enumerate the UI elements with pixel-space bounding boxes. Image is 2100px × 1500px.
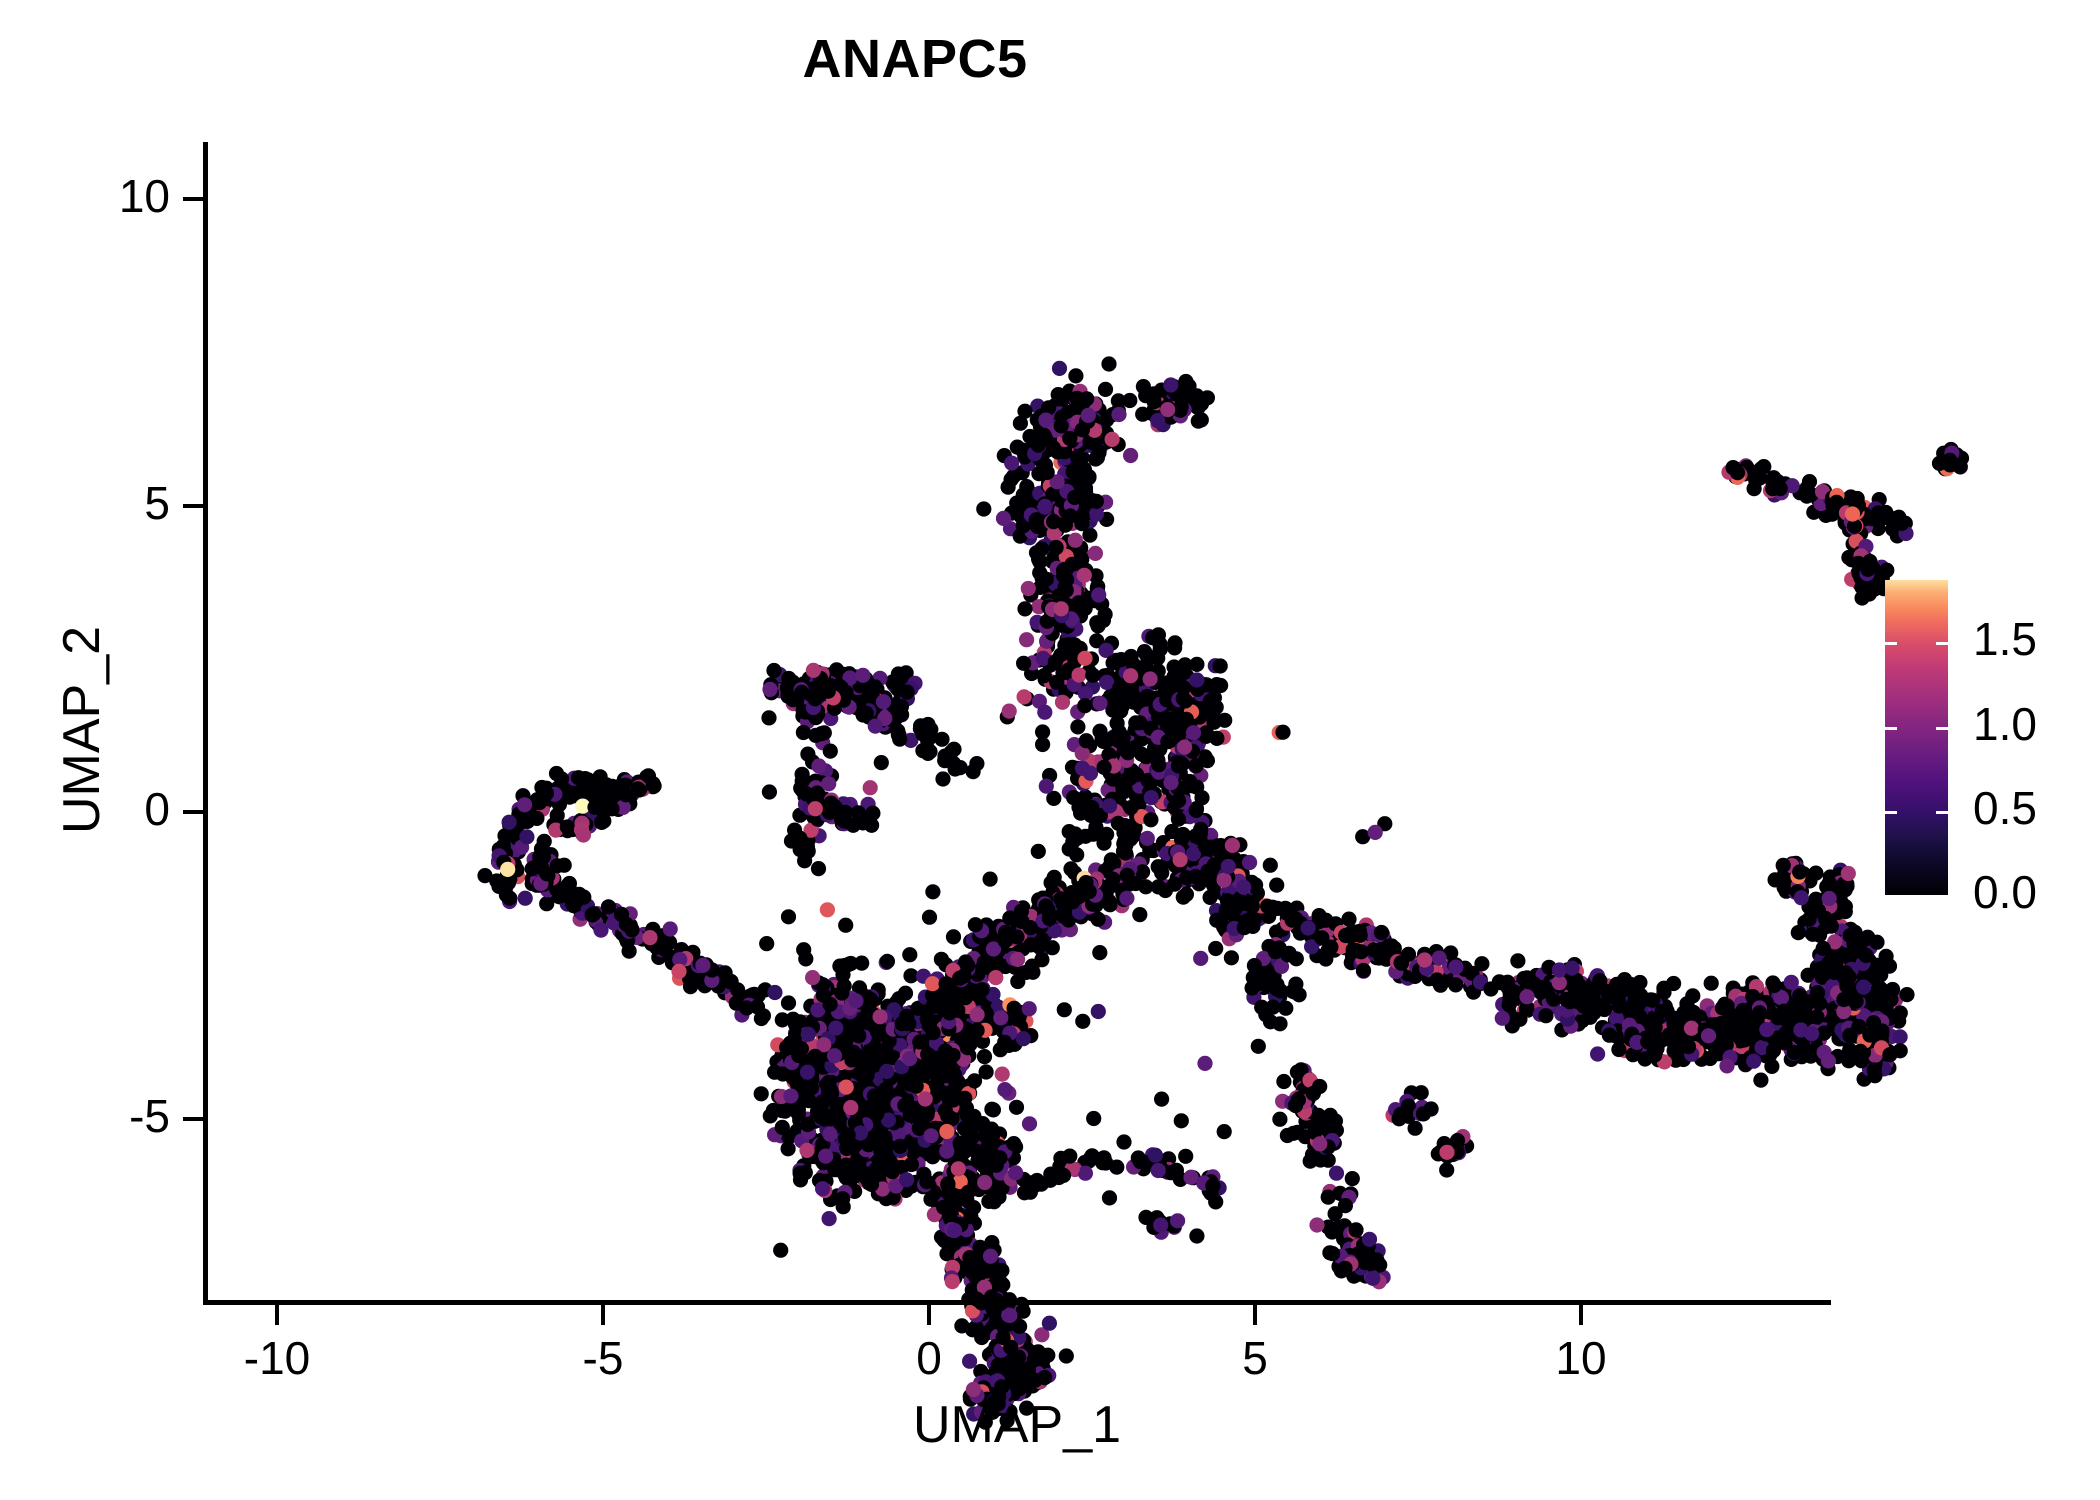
scatter-point	[1009, 1374, 1024, 1389]
scatter-point	[864, 1075, 879, 1090]
scatter-point	[1813, 1018, 1828, 1033]
scatter-point	[966, 1258, 981, 1273]
scatter-point	[1446, 1146, 1461, 1161]
scatter-point	[1464, 966, 1479, 981]
scatter-point	[1140, 707, 1155, 722]
scatter-point	[774, 1103, 789, 1118]
scatter-point	[892, 1101, 907, 1116]
scatter-point	[979, 936, 994, 951]
scatter-point	[1412, 963, 1427, 978]
scatter-point	[1070, 588, 1085, 603]
scatter-point	[1063, 418, 1078, 433]
scatter-point	[804, 687, 819, 702]
scatter-point	[957, 1211, 972, 1226]
scatter-point	[882, 1122, 897, 1137]
scatter-point	[1122, 819, 1137, 834]
scatter-point	[1035, 942, 1050, 957]
scatter-point	[1638, 1015, 1653, 1030]
scatter-point	[1275, 922, 1290, 937]
scatter-point	[832, 1019, 847, 1034]
scatter-point	[979, 1179, 994, 1194]
scatter-point	[860, 1171, 875, 1186]
scatter-point	[865, 1015, 880, 1030]
scatter-point	[1589, 1001, 1604, 1016]
scatter-point	[918, 990, 933, 1005]
scatter-point	[957, 1231, 972, 1246]
scatter-point	[1049, 605, 1064, 620]
scatter-point	[906, 1041, 921, 1056]
scatter-point	[1145, 1147, 1160, 1162]
scatter-point	[1052, 892, 1067, 907]
scatter-point	[1079, 733, 1094, 748]
scatter-point	[1341, 935, 1356, 950]
scatter-point	[1653, 999, 1668, 1014]
scatter-point	[1032, 486, 1047, 501]
scatter-point	[1828, 974, 1843, 989]
scatter-point	[1362, 943, 1377, 958]
scatter-point	[1032, 565, 1047, 580]
scatter-point	[1758, 1024, 1773, 1039]
scatter-point	[857, 1173, 872, 1188]
scatter-point	[891, 1121, 906, 1136]
scatter-point	[1029, 1173, 1044, 1188]
scatter-point	[993, 1166, 1008, 1181]
scatter-point	[943, 1034, 958, 1049]
scatter-point	[813, 991, 828, 1006]
scatter-point	[888, 1101, 903, 1116]
scatter-point	[1343, 1256, 1358, 1271]
scatter-point	[839, 1170, 854, 1185]
scatter-point	[1174, 872, 1189, 887]
scatter-point	[945, 1222, 960, 1237]
scatter-point	[590, 906, 605, 921]
scatter-point	[577, 820, 592, 835]
scatter-point	[960, 1228, 975, 1243]
scatter-point	[1047, 610, 1062, 625]
scatter-point	[997, 1144, 1012, 1159]
scatter-point	[998, 933, 1013, 948]
scatter-point	[1024, 1346, 1039, 1361]
scatter-point	[1030, 615, 1045, 630]
scatter-point	[923, 990, 938, 1005]
scatter-point	[942, 1142, 957, 1157]
scatter-point	[959, 1009, 974, 1024]
scatter-point	[1622, 1025, 1637, 1040]
scatter-point	[1739, 1030, 1754, 1045]
scatter-point	[1379, 952, 1394, 967]
scatter-point	[993, 1275, 1008, 1290]
scatter-point	[1206, 715, 1221, 730]
scatter-point	[899, 1077, 914, 1092]
scatter-point	[869, 1149, 884, 1164]
scatter-point	[1717, 1031, 1732, 1046]
scatter-point	[988, 962, 1003, 977]
scatter-point	[1168, 781, 1183, 796]
scatter-point	[883, 1032, 898, 1047]
scatter-point	[894, 1160, 909, 1175]
scatter-point	[912, 1071, 927, 1086]
scatter-point	[1767, 988, 1782, 1003]
scatter-point	[823, 678, 838, 693]
scatter-point	[1054, 558, 1069, 573]
scatter-point	[1573, 1006, 1588, 1021]
scatter-point	[1846, 995, 1861, 1010]
scatter-point	[1168, 844, 1183, 859]
scatter-point	[1152, 1214, 1167, 1229]
scatter-point	[1645, 993, 1660, 1008]
scatter-point	[1163, 410, 1178, 425]
scatter-point	[1829, 964, 1844, 979]
scatter-point	[961, 1131, 976, 1146]
scatter-point	[835, 1062, 850, 1077]
scatter-point	[1150, 753, 1165, 768]
scatter-point	[1759, 1032, 1774, 1047]
scatter-point	[975, 1116, 990, 1131]
scatter-point	[1072, 905, 1087, 920]
scatter-point	[605, 795, 620, 810]
scatter-point	[1542, 995, 1557, 1010]
scatter-point	[1054, 601, 1069, 616]
scatter-point	[795, 708, 810, 723]
scatter-point	[815, 977, 830, 992]
scatter-point	[992, 1279, 1007, 1294]
scatter-point	[805, 970, 820, 985]
scatter-point	[918, 1033, 933, 1048]
scatter-point	[920, 1012, 935, 1027]
scatter-point	[1033, 452, 1048, 467]
scatter-point	[1086, 876, 1101, 891]
scatter-point	[903, 1064, 918, 1079]
scatter-point	[775, 678, 790, 693]
scatter-point	[1025, 655, 1040, 670]
scatter-point	[1062, 389, 1077, 404]
scatter-point	[853, 677, 868, 692]
scatter-point	[1749, 979, 1764, 994]
scatter-point	[1117, 834, 1132, 849]
scatter-point	[972, 929, 987, 944]
scatter-point	[919, 1174, 934, 1189]
scatter-point	[935, 996, 950, 1011]
scatter-point	[838, 1039, 853, 1054]
scatter-point	[804, 1072, 819, 1087]
scatter-point	[814, 683, 829, 698]
scatter-point	[820, 1046, 835, 1061]
scatter-point	[850, 1091, 865, 1106]
scatter-point	[1174, 667, 1189, 682]
scatter-point	[813, 671, 828, 686]
scatter-point	[1030, 444, 1045, 459]
scatter-point	[1074, 508, 1089, 523]
scatter-point	[1374, 925, 1389, 940]
scatter-point	[578, 778, 593, 793]
scatter-point	[988, 966, 1003, 981]
scatter-point	[1754, 1040, 1769, 1055]
scatter-point	[1045, 626, 1060, 641]
scatter-point	[818, 1174, 833, 1189]
scatter-point	[1011, 1331, 1026, 1346]
scatter-point	[1038, 432, 1053, 447]
scatter-point	[1196, 689, 1211, 704]
scatter-point	[902, 1038, 917, 1053]
scatter-point	[1170, 707, 1185, 722]
scatter-point	[1801, 1045, 1816, 1060]
scatter-point	[1322, 1245, 1337, 1260]
scatter-point	[865, 1142, 880, 1157]
scatter-point	[687, 968, 702, 983]
scatter-point	[894, 1072, 909, 1087]
scatter-point	[537, 786, 552, 801]
scatter-point	[775, 1120, 790, 1135]
scatter-point	[1617, 978, 1632, 993]
scatter-point	[1150, 413, 1165, 428]
scatter-point	[1059, 583, 1074, 598]
scatter-point	[912, 1001, 927, 1016]
scatter-point	[741, 998, 756, 1013]
scatter-point	[1064, 597, 1079, 612]
scatter-point	[857, 1048, 872, 1063]
scatter-point	[1054, 410, 1069, 425]
scatter-point	[1031, 939, 1046, 954]
scatter-point	[1159, 692, 1174, 707]
scatter-point	[1053, 1151, 1068, 1166]
scatter-point	[1422, 962, 1437, 977]
scatter-point	[891, 666, 906, 681]
scatter-point	[1745, 989, 1760, 1004]
scatter-point	[805, 1059, 820, 1074]
scatter-point	[1882, 1011, 1897, 1026]
scatter-point	[1355, 1249, 1370, 1264]
scatter-point	[1173, 403, 1188, 418]
scatter-point	[725, 989, 740, 1004]
scatter-point	[1846, 1020, 1861, 1035]
scatter-point	[645, 922, 660, 937]
scatter-point	[845, 1077, 860, 1092]
scatter-point	[1168, 750, 1183, 765]
scatter-point	[858, 1144, 873, 1159]
scatter-point	[831, 1054, 846, 1069]
scatter-point	[854, 1050, 869, 1065]
scatter-point	[995, 1067, 1010, 1082]
scatter-point	[847, 1154, 862, 1169]
scatter-point	[1826, 918, 1841, 933]
scatter-point	[948, 989, 963, 1004]
scatter-point	[896, 1080, 911, 1095]
scatter-point	[1111, 868, 1126, 883]
scatter-point	[1173, 383, 1188, 398]
scatter-point	[1034, 936, 1049, 951]
scatter-point	[938, 1065, 953, 1080]
scatter-point	[1022, 493, 1037, 508]
scatter-point	[1775, 1027, 1790, 1042]
scatter-point	[1600, 989, 1615, 1004]
scatter-point	[949, 1189, 964, 1204]
scatter-point	[1571, 994, 1586, 1009]
scatter-point	[1068, 602, 1083, 617]
scatter-point	[1049, 886, 1064, 901]
scatter-point	[1013, 529, 1028, 544]
scatter-point	[1793, 1022, 1808, 1037]
scatter-point	[961, 1003, 976, 1018]
scatter-point	[1351, 1246, 1366, 1261]
scatter-point	[1847, 1008, 1862, 1023]
scatter-point	[1253, 905, 1268, 920]
scatter-point	[1868, 970, 1883, 985]
scatter-point	[907, 1141, 922, 1156]
scatter-point	[929, 1052, 944, 1067]
scatter-point	[914, 1038, 929, 1053]
scatter-point	[623, 906, 638, 921]
scatter-point	[1449, 1141, 1464, 1156]
scatter-point	[1328, 1113, 1343, 1128]
scatter-point	[1090, 585, 1105, 600]
scatter-point	[928, 1145, 943, 1160]
scatter-point	[1369, 1261, 1384, 1276]
scatter-point	[1225, 881, 1240, 896]
scatter-point	[1200, 836, 1215, 851]
scatter-point	[1290, 1125, 1305, 1140]
scatter-point	[1070, 584, 1085, 599]
scatter-point	[1152, 742, 1167, 757]
scatter-point	[838, 1080, 853, 1095]
scatter-point	[1061, 637, 1076, 652]
scatter-point	[1132, 779, 1147, 794]
scatter-point	[1056, 568, 1071, 583]
scatter-point	[1203, 1174, 1218, 1189]
scatter-point	[1783, 1027, 1798, 1042]
scatter-point	[1218, 923, 1233, 938]
scatter-point	[1220, 869, 1235, 884]
scatter-point	[1348, 935, 1363, 950]
scatter-point	[1751, 1018, 1766, 1033]
scatter-point	[511, 844, 526, 859]
scatter-point	[582, 810, 597, 825]
scatter-point	[1053, 486, 1068, 501]
scatter-point	[810, 687, 825, 702]
scatter-point	[1836, 992, 1851, 1007]
scatter-point	[1023, 1185, 1038, 1200]
scatter-point	[923, 1062, 938, 1077]
scatter-point	[1205, 1169, 1220, 1184]
scatter-point	[1130, 811, 1145, 826]
scatter-point	[1794, 1049, 1809, 1064]
scatter-point	[1022, 512, 1037, 527]
scatter-point	[850, 680, 865, 695]
scatter-point	[808, 774, 823, 789]
scatter-point	[799, 1027, 814, 1042]
scatter-point	[1685, 1008, 1700, 1023]
scatter-point	[1785, 995, 1800, 1010]
scatter-point	[1019, 632, 1034, 647]
scatter-point	[857, 1095, 872, 1110]
scatter-point	[1640, 997, 1655, 1012]
scatter-point	[1847, 1016, 1862, 1031]
scatter-point	[1660, 1005, 1675, 1020]
scatter-point	[1071, 386, 1086, 401]
scatter-point	[1784, 1023, 1799, 1038]
scatter-point	[1044, 486, 1059, 501]
scatter-point	[921, 1084, 936, 1099]
scatter-point	[1322, 1118, 1337, 1133]
scatter-point	[850, 1013, 865, 1028]
scatter-point	[1730, 1024, 1745, 1039]
scatter-point	[1203, 1186, 1218, 1201]
scatter-point	[1078, 1166, 1093, 1181]
scatter-point	[1096, 890, 1111, 905]
scatter-point	[1219, 903, 1234, 918]
scatter-point	[1032, 554, 1047, 569]
scatter-point	[1265, 1000, 1280, 1015]
scatter-point	[1069, 892, 1084, 907]
scatter-point	[852, 1066, 867, 1081]
scatter-point	[1832, 983, 1847, 998]
scatter-point	[1174, 398, 1189, 413]
scatter-point	[959, 965, 974, 980]
scatter-point	[966, 1171, 981, 1186]
scatter-point	[1274, 959, 1289, 974]
scatter-point	[889, 680, 904, 695]
scatter-point	[1114, 688, 1129, 703]
scatter-point	[1819, 1006, 1834, 1021]
scatter-point	[1296, 1070, 1311, 1085]
scatter-point	[929, 995, 944, 1010]
scatter-point	[1037, 668, 1052, 683]
scatter-point	[960, 1108, 975, 1123]
scatter-point	[1161, 692, 1176, 707]
scatter-point	[1060, 573, 1075, 588]
scatter-point	[1111, 672, 1126, 687]
scatter-point	[1040, 441, 1055, 456]
scatter-point	[1818, 1000, 1833, 1015]
scatter-point	[914, 1094, 929, 1109]
scatter-point	[1128, 722, 1143, 737]
scatter-point	[1120, 774, 1135, 789]
scatter-point	[903, 968, 918, 983]
scatter-point	[901, 1016, 916, 1031]
scatter-point	[868, 1142, 883, 1157]
scatter-point	[1840, 1017, 1855, 1032]
scatter-point	[1131, 664, 1146, 679]
scatter-point	[1682, 1023, 1697, 1038]
scatter-point	[874, 1092, 889, 1107]
scatter-point	[1061, 417, 1076, 432]
scatter-point	[1237, 896, 1252, 911]
scatter-point	[820, 1045, 835, 1060]
scatter-point	[825, 1041, 840, 1056]
scatter-point	[1076, 437, 1091, 452]
scatter-point	[793, 781, 808, 796]
scatter-point	[1164, 795, 1179, 810]
scatter-point	[926, 1130, 941, 1145]
scatter-point	[997, 448, 1012, 463]
scatter-point	[1851, 944, 1866, 959]
scatter-point	[985, 1167, 1000, 1182]
scatter-point	[958, 1232, 973, 1247]
scatter-point	[1198, 749, 1213, 764]
scatter-point	[1030, 399, 1045, 414]
scatter-point	[1151, 394, 1166, 409]
scatter-point	[851, 695, 866, 710]
scatter-point	[1833, 940, 1848, 955]
scatter-point	[1052, 509, 1067, 524]
scatter-point	[892, 1016, 907, 1031]
scatter-point	[1773, 1034, 1788, 1049]
scatter-point	[873, 1075, 888, 1090]
scatter-point	[861, 709, 876, 724]
scatter-point	[1200, 685, 1215, 700]
scatter-point	[1349, 943, 1364, 958]
scatter-point	[1115, 671, 1130, 686]
scatter-point	[958, 990, 973, 1005]
